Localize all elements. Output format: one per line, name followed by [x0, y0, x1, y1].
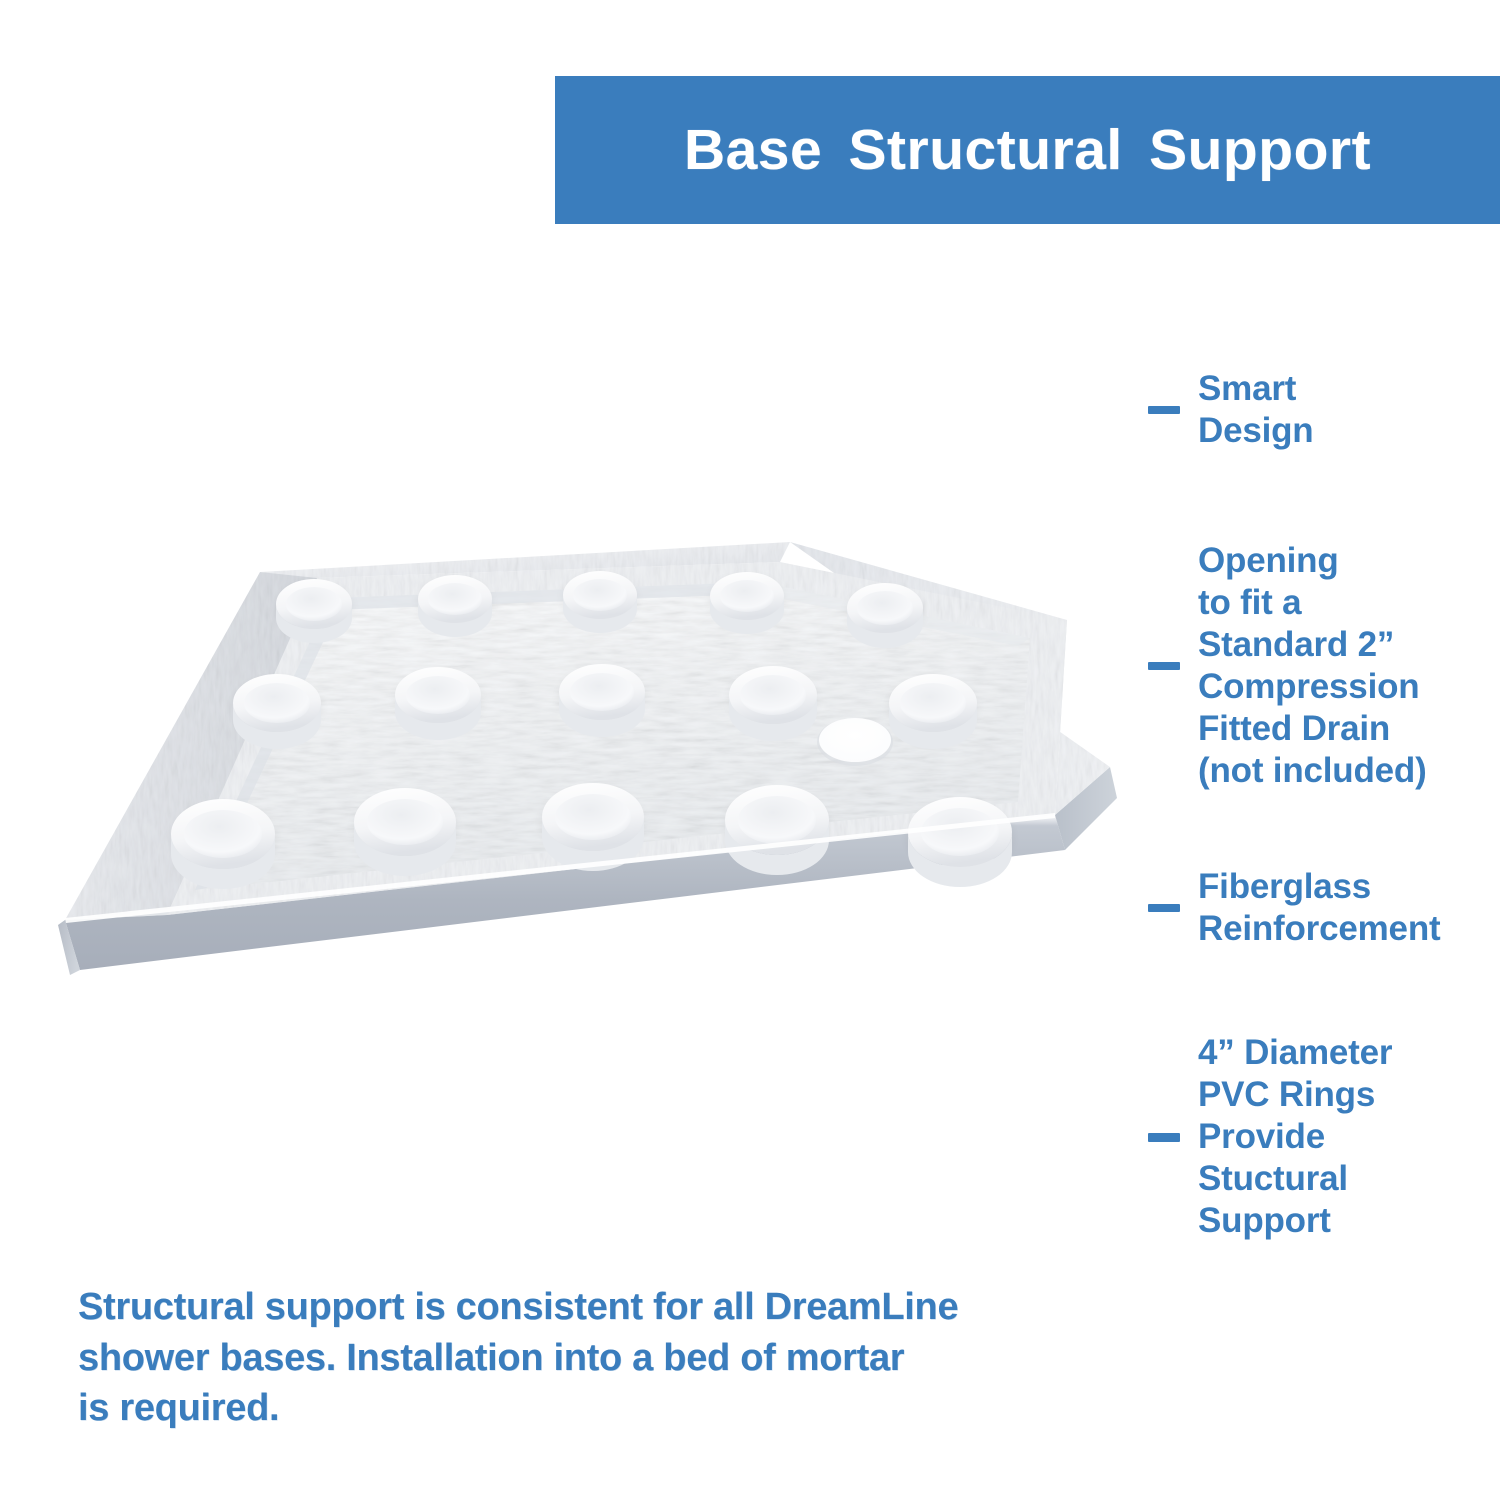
bottom-caption: Structural support is consistent for all… [78, 1282, 1038, 1434]
pvc-ring [418, 575, 492, 637]
callout-fiberglass-label: Fiberglass Reinforcement [1198, 866, 1440, 950]
dash-marker-icon [1148, 904, 1180, 912]
pvc-ring [233, 674, 321, 749]
pvc-ring [542, 783, 644, 871]
pvc-ring [171, 799, 275, 889]
pvc-ring [354, 788, 456, 876]
callout-drain-opening: Opening to fit a Standard 2” Compression… [1148, 540, 1427, 792]
pvc-ring [395, 667, 481, 740]
callout-smart-design: Smart Design [1148, 368, 1314, 452]
drain-opening [817, 718, 893, 766]
pvc-ring [729, 666, 817, 741]
shower-base-illustration [55, 520, 1165, 1000]
dash-marker-icon [1148, 1133, 1180, 1142]
callout-pvc-rings: 4” Diameter PVC Rings Provide Stuctural … [1148, 1032, 1392, 1242]
header-banner: Base Structural Support [555, 76, 1500, 224]
callout-smart-design-label: Smart Design [1198, 368, 1314, 452]
pvc-ring [710, 572, 784, 634]
pvc-ring [908, 797, 1012, 887]
callout-fiberglass: Fiberglass Reinforcement [1148, 866, 1440, 950]
callout-drain-opening-label: Opening to fit a Standard 2” Compression… [1198, 540, 1427, 792]
pvc-ring [276, 579, 352, 643]
pvc-ring [725, 785, 829, 875]
dash-marker-icon [1148, 662, 1180, 670]
pvc-ring [847, 583, 923, 648]
page-title: Base Structural Support [684, 117, 1371, 183]
callout-pvc-rings-label: 4” Diameter PVC Rings Provide Stuctural … [1198, 1032, 1392, 1242]
dash-marker-icon [1148, 406, 1180, 414]
pvc-ring [889, 674, 977, 749]
pvc-ring [563, 571, 637, 633]
pvc-ring [559, 664, 645, 737]
